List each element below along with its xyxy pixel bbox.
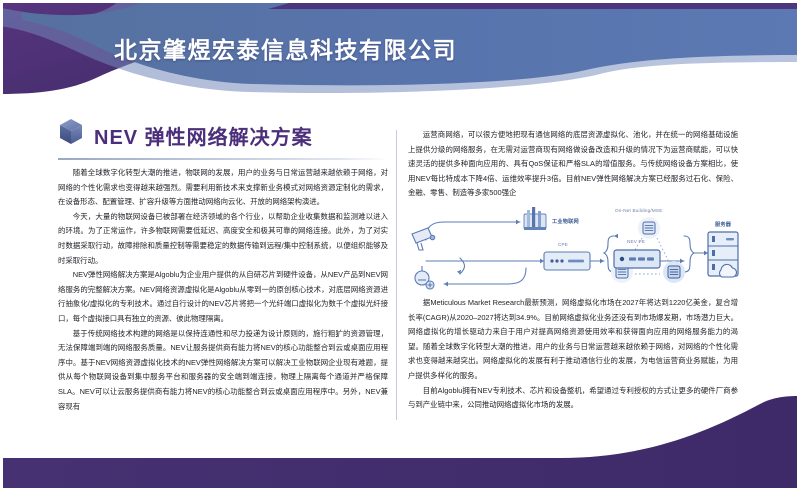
network-diagram: 工业物联网 CPE On-Net Building/MSE NEV PE 服务器: [408, 206, 744, 294]
cube-icon: [58, 118, 84, 148]
footer-banner: [0, 396, 800, 491]
nev-pe-device-icon: [614, 250, 660, 268]
diagram-label-server: 服务器: [715, 221, 731, 228]
smart-device-icon: [415, 266, 434, 289]
header-banner: 北京肇煜宏泰信息科技有限公司: [0, 0, 800, 100]
diagram-label-industrial-iot: 工业物联网: [552, 218, 579, 225]
paragraph: NEV弹性网络解决方案是Algoblu为企业用户提供的从自研芯片到硬件设备，从N…: [58, 268, 388, 326]
header-accent-strip: [268, 0, 800, 9]
diagram-label-nev-pe: NEV PE: [627, 239, 645, 244]
server-cloud-icon: [708, 232, 738, 277]
node-icon: [663, 261, 685, 283]
footer-shape-group: [0, 396, 800, 491]
right-column-top: 运营商网络，可以很方便地把现有通信网络的底层资源虚拟化、池化，并在统一的网络基础…: [408, 128, 738, 201]
factory-icon: [524, 207, 546, 230]
paragraph: 据Meticulous Market Research最新预测，网络虚拟化市场在…: [408, 296, 738, 384]
title-underline: [58, 158, 388, 160]
paragraph: 运营商网络，可以很方便地把现有通信网络的底层资源虚拟化、池化，并在统一的网络基础…: [408, 128, 738, 201]
brochure-page: 北京肇煜宏泰信息科技有限公司 NEV 弹性网络解决方案 随着: [0, 0, 800, 491]
left-column: 随着全球数字化转型大潮的推进，物联网的发展，用户的业务与日常运营越来越依赖于网络…: [58, 166, 388, 414]
diagram-label-on-net: On-Net Building/MSE: [615, 208, 662, 213]
footer-curve-shape: [0, 396, 800, 491]
company-name: 北京肇煜宏泰信息科技有限公司: [114, 31, 457, 65]
paragraph: 今天，大量的物联网设备已被部署在经济领域的各个行业，以帮助企业收集数据和监测难以…: [58, 210, 388, 268]
node-icon: [638, 217, 660, 239]
page-title-block: NEV 弹性网络解决方案: [58, 118, 388, 162]
camera-icon: [412, 228, 435, 250]
cpe-router-icon: [544, 252, 590, 270]
page-title: NEV 弹性网络解决方案: [94, 121, 313, 150]
column-divider: [396, 130, 397, 420]
diagram-label-cpe: CPE: [558, 242, 568, 247]
paragraph: 随着全球数字化转型大潮的推进，物联网的发展，用户的业务与日常运营越来越依赖于网络…: [58, 166, 388, 210]
